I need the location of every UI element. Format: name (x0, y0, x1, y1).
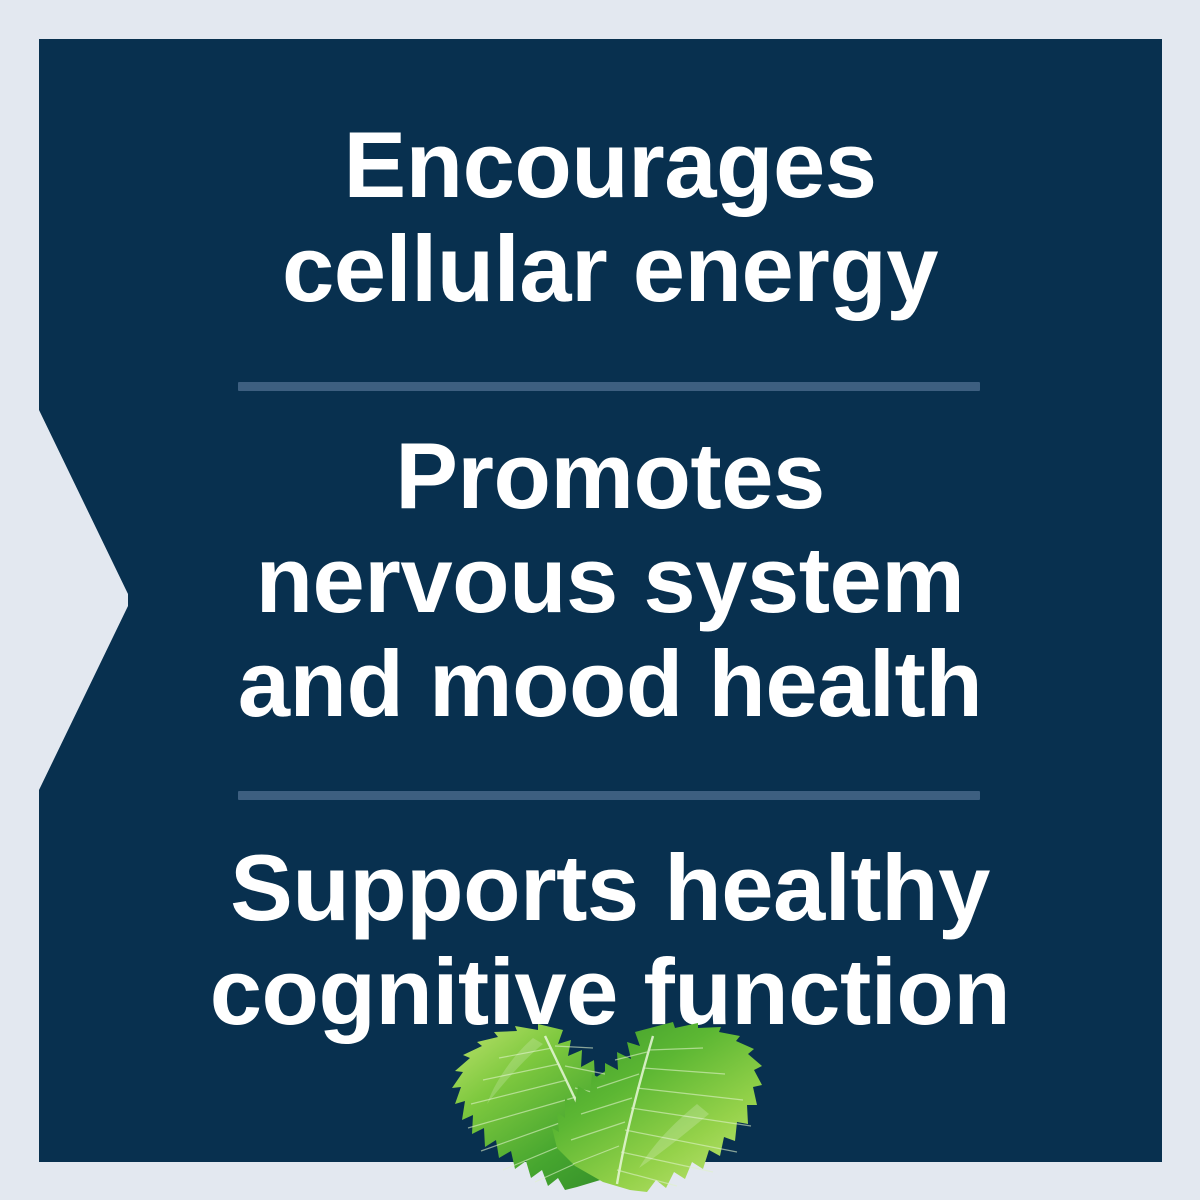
divider-after-benefit-1 (238, 382, 980, 391)
benefit-text-cellular-energy: Encourages cellular energy (150, 113, 1070, 321)
benefit-text-cognitive-function: Supports healthy cognitive function (150, 836, 1070, 1044)
content-stack: Encourages cellular energy Promotes nerv… (0, 0, 1200, 1200)
benefits-graphic: Encourages cellular energy Promotes nerv… (0, 0, 1200, 1200)
benefit-text-nervous-system-mood: Promotes nervous system and mood health (150, 424, 1070, 736)
green-leaf-pair-icon (425, 1018, 775, 1198)
divider-after-benefit-2 (238, 791, 980, 800)
